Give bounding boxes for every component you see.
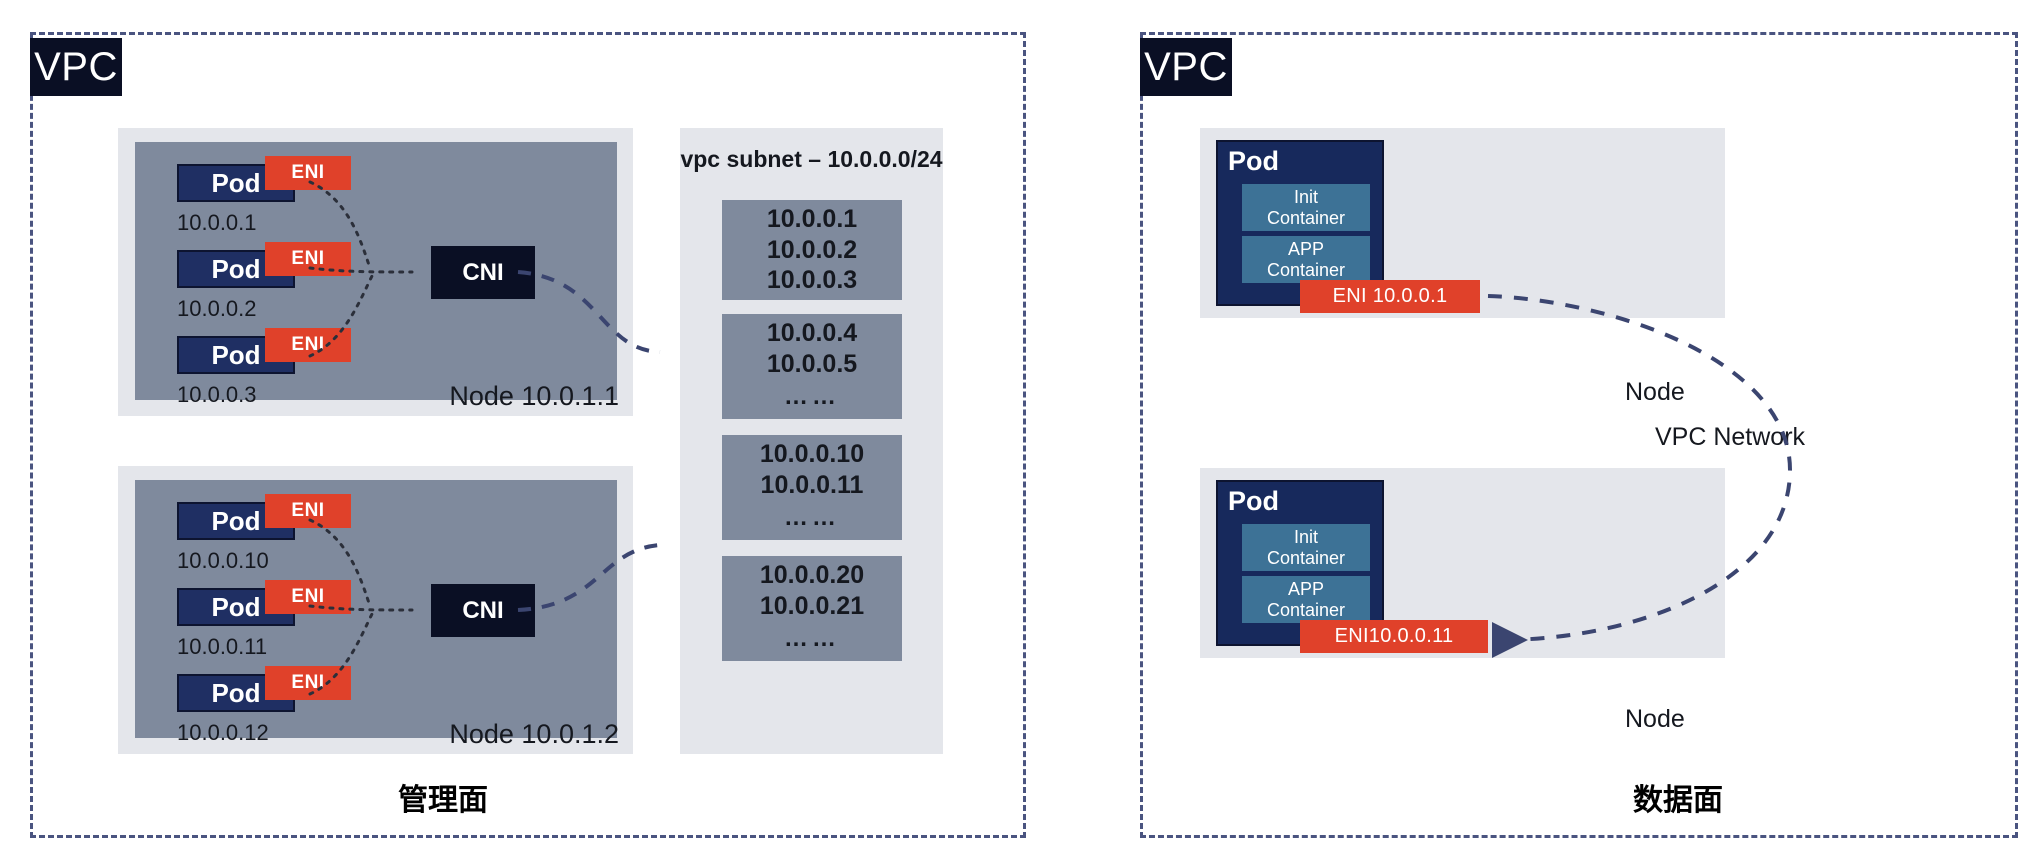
ip-entry: 10.0.0.11 (761, 470, 864, 501)
ip-block[interactable]: 10.0.0.20 10.0.0.21 …… (722, 556, 902, 661)
cni-box[interactable]: CNI (431, 246, 535, 299)
pod-row[interactable]: Pod ENI (177, 674, 417, 712)
pod-row[interactable]: Pod ENI (177, 336, 417, 374)
container-label-line2: Container (1267, 548, 1345, 569)
vpc-subnet-panel: vpc subnet – 10.0.0.0/24 10.0.0.1 10.0.0… (680, 128, 943, 754)
pod-row[interactable]: Pod ENI (177, 164, 417, 202)
eni-tag[interactable]: ENI (265, 666, 351, 700)
ip-entry: 10.0.0.1 (767, 204, 857, 235)
ip-entry: 10.0.0.20 (760, 560, 864, 591)
eni-tag[interactable]: ENI (265, 328, 351, 362)
ip-entry: 10.0.0.4 (767, 318, 857, 349)
ip-block[interactable]: 10.0.0.4 10.0.0.5 …… (722, 314, 902, 419)
host-container-1: Pod Init Container APP Container ENI 10.… (1200, 128, 1725, 318)
ip-ellipsis: …… (784, 379, 840, 415)
pod-ip-label: 10.0.0.10 (177, 548, 269, 574)
container-label-line1: Init (1294, 527, 1318, 548)
pod-title: Pod (1228, 486, 1279, 517)
eni-tag[interactable]: ENI (265, 580, 351, 614)
ip-entry: 10.0.0.10 (760, 439, 864, 470)
data-plane-caption: 数据面 (1633, 775, 1723, 819)
node-inner-2: Pod ENI 10.0.0.10 Pod ENI 10.0.0.11 Pod … (135, 480, 617, 738)
container-label-line1: APP (1288, 239, 1324, 260)
subnet-title: vpc subnet – 10.0.0.0/24 (680, 146, 943, 173)
pod-ip-label: 10.0.0.3 (177, 382, 257, 408)
node-label: Node 10.0.1.2 (449, 719, 619, 750)
vpc-network-label: VPC Network (1655, 423, 1805, 452)
ip-block[interactable]: 10.0.0.10 10.0.0.11 …… (722, 435, 902, 540)
container-label-line2: Container (1267, 260, 1345, 281)
node-label-top: Node (1625, 378, 1685, 407)
management-plane-caption: 管理面 (398, 775, 488, 819)
pod-ip-label: 10.0.0.12 (177, 720, 269, 746)
container-label-line1: APP (1288, 579, 1324, 600)
vpc-badge-management: VPC (30, 38, 122, 96)
pod-ip-label: 10.0.0.11 (177, 634, 267, 660)
app-container-box[interactable]: APP Container (1242, 236, 1370, 283)
ip-ellipsis: …… (784, 500, 840, 536)
pod-row[interactable]: Pod ENI (177, 502, 417, 540)
ip-block[interactable]: 10.0.0.1 10.0.0.2 10.0.0.3 (722, 200, 902, 300)
ip-ellipsis: …… (784, 621, 840, 657)
pod-row[interactable]: Pod ENI (177, 250, 417, 288)
node-container-1: Pod ENI 10.0.0.1 Pod ENI 10.0.0.2 Pod EN… (118, 128, 633, 416)
ip-entry: 10.0.0.2 (767, 235, 857, 266)
ip-entry: 10.0.0.21 (760, 591, 864, 622)
node-container-2: Pod ENI 10.0.0.10 Pod ENI 10.0.0.11 Pod … (118, 466, 633, 754)
host-container-2: Pod Init Container APP Container ENI10.0… (1200, 468, 1725, 658)
eni-tag-large[interactable]: ENI 10.0.0.1 (1300, 280, 1480, 313)
container-label-line2: Container (1267, 600, 1345, 621)
init-container-box[interactable]: Init Container (1242, 524, 1370, 571)
ip-entry: 10.0.0.5 (767, 349, 857, 380)
container-label-line2: Container (1267, 208, 1345, 229)
pod-ip-label: 10.0.0.2 (177, 296, 257, 322)
pod-ip-label: 10.0.0.1 (177, 210, 257, 236)
eni-tag[interactable]: ENI (265, 494, 351, 528)
eni-tag[interactable]: ENI (265, 242, 351, 276)
cni-box[interactable]: CNI (431, 584, 535, 637)
vpc-badge-data: VPC (1140, 38, 1232, 96)
eni-tag-large[interactable]: ENI10.0.0.11 (1300, 620, 1488, 653)
app-container-box[interactable]: APP Container (1242, 576, 1370, 623)
node-label: Node 10.0.1.1 (449, 381, 619, 412)
ip-entry: 10.0.0.3 (767, 265, 857, 296)
node-inner-1: Pod ENI 10.0.0.1 Pod ENI 10.0.0.2 Pod EN… (135, 142, 617, 400)
eni-tag[interactable]: ENI (265, 156, 351, 190)
node-label-bottom: Node (1625, 705, 1685, 734)
pod-title: Pod (1228, 146, 1279, 177)
init-container-box[interactable]: Init Container (1242, 184, 1370, 231)
pod-row[interactable]: Pod ENI (177, 588, 417, 626)
container-label-line1: Init (1294, 187, 1318, 208)
